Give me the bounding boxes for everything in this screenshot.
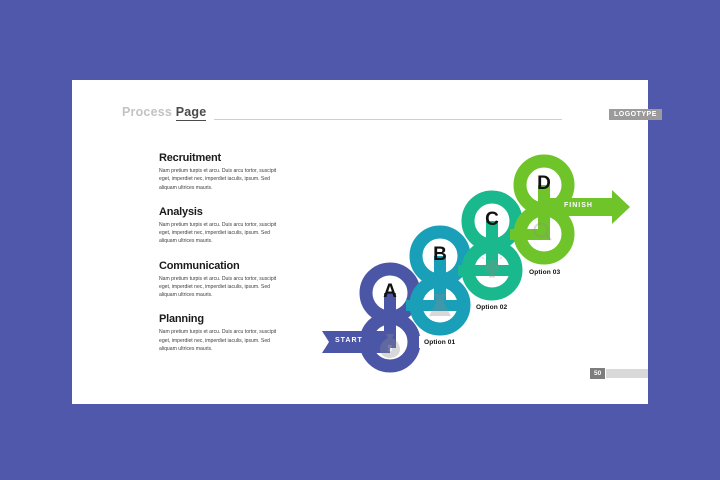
logotype-badge: LOGOTYPE bbox=[609, 109, 662, 120]
block-body-analysis: Nam pretium turpis et arcu. Duis arcu to… bbox=[159, 221, 277, 246]
slide-surface: Process Page LOGOTYPE Recruitment Nam pr… bbox=[72, 80, 648, 404]
svg-text:$: $ bbox=[388, 344, 393, 353]
block-heading-communication: Communication bbox=[159, 260, 277, 272]
option-body-01: Etiam rhoncus. Maecenas tempus, tellus e… bbox=[419, 358, 465, 377]
block-heading-analysis: Analysis bbox=[159, 206, 277, 218]
list-item: Communication Nam pretium turpis et arcu… bbox=[159, 260, 277, 300]
list-item: Planning Nam pretium turpis et arcu. Dui… bbox=[159, 313, 277, 353]
node-letter-d: D bbox=[529, 173, 559, 195]
page-title-dark: Page bbox=[176, 105, 207, 121]
list-item: Analysis Nam pretium turpis et arcu. Dui… bbox=[159, 206, 277, 246]
finish-label: FINISH bbox=[564, 202, 593, 209]
footer-bar bbox=[606, 369, 648, 378]
node-letter-c: C bbox=[477, 209, 507, 231]
node-letter-b: B bbox=[425, 244, 455, 266]
option-label-01[interactable]: Option 01 bbox=[419, 336, 460, 348]
option-label-03[interactable]: Option 03 bbox=[524, 266, 565, 278]
description-list: Recruitment Nam pretium turpis et arcu. … bbox=[159, 152, 277, 367]
list-item: Recruitment Nam pretium turpis et arcu. … bbox=[159, 152, 277, 192]
node-letter-a: A bbox=[375, 281, 405, 303]
page-title: Process Page bbox=[122, 105, 206, 119]
block-body-recruitment: Nam pretium turpis et arcu. Duis arcu to… bbox=[159, 167, 277, 192]
process-chain-diagram: $ bbox=[282, 130, 642, 400]
option-body-02: Etiam rhoncus. Maecenas tempus, tellus e… bbox=[471, 323, 517, 342]
option-body-03: Etiam rhoncus. Maecenas tempus, tellus e… bbox=[524, 288, 570, 307]
start-label: START bbox=[335, 337, 363, 344]
block-body-communication: Nam pretium turpis et arcu. Duis arcu to… bbox=[159, 275, 277, 300]
block-body-planning: Nam pretium turpis et arcu. Duis arcu to… bbox=[159, 328, 277, 353]
slide-header: Process Page LOGOTYPE bbox=[122, 105, 607, 125]
page-number-badge: 50 bbox=[590, 368, 605, 379]
block-heading-planning: Planning bbox=[159, 313, 277, 325]
header-divider bbox=[214, 119, 562, 120]
page-title-light: Process bbox=[122, 105, 172, 119]
block-heading-recruitment: Recruitment bbox=[159, 152, 277, 164]
option-label-02[interactable]: Option 02 bbox=[471, 301, 512, 313]
